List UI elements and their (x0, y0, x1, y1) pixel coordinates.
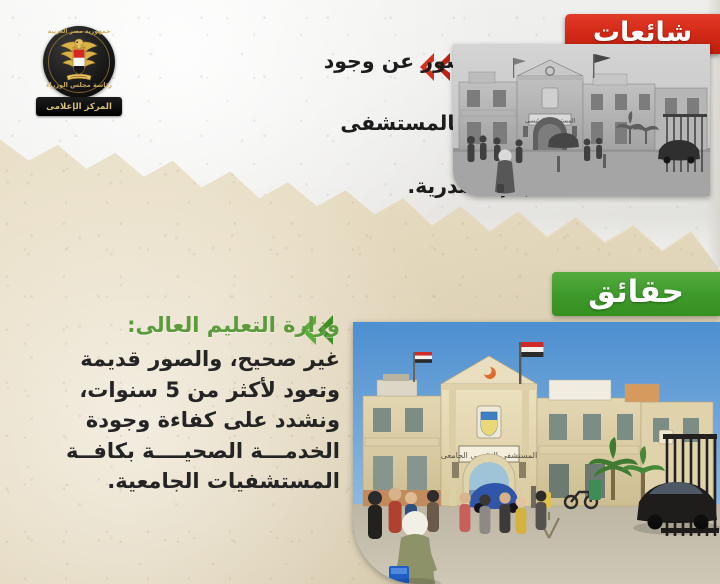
infographic-poster: جمهورية مصر العربية رئاسة مجلس الوزراء ا… (0, 0, 720, 584)
facts-text-line-1: غير صحيح، والصور قديمة (22, 344, 340, 374)
logo-arc-top-text: جمهورية مصر العربية (36, 28, 122, 35)
facts-badge: حقائق (552, 272, 720, 316)
logo-arc-middle-text: رئاسة مجلس الوزراء (36, 81, 122, 89)
facts-text-line-3: ونشدد على كفاءة وجودة (22, 405, 340, 435)
eagle-of-saladin-icon (56, 37, 102, 85)
miri-hospital-black-and-white-photo: المستشفى الرئيسى (453, 44, 710, 196)
facts-heading: وزارة التعليم العالى: (22, 312, 340, 339)
miri-hospital-color-photo: المستشفى الرئيسى الجامعى (353, 322, 720, 584)
facts-body: غير صحيح، والصور قديمة وتعود لأكثر من 5 … (22, 344, 340, 496)
logo-band-text: المركز الإعلامى (46, 102, 112, 112)
facts-text-block: وزارة التعليم العالى: غير صحيح، والصور ق… (22, 312, 340, 496)
logo-band: المركز الإعلامى (36, 97, 122, 116)
facts-badge-label: حقائق (588, 274, 684, 310)
facts-text-line-4: الخدمـــة الصحيــــة بكافــة (22, 436, 340, 466)
facts-text-line-5: المستشفيات الجامعية. (22, 466, 340, 496)
egypt-government-media-center-logo: جمهورية مصر العربية رئاسة مجلس الوزراء ا… (36, 26, 122, 118)
facts-text-line-2: وتعود لأكثر من 5 سنوات، (22, 375, 340, 405)
